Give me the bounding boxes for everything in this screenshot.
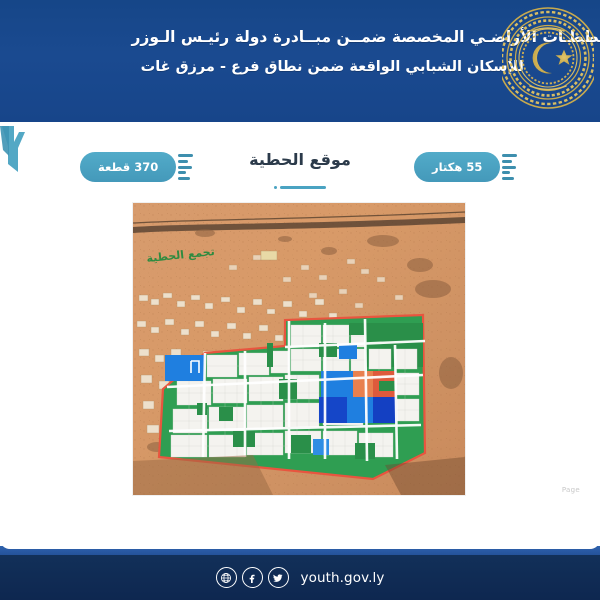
libyan-government-seal-icon [502,2,594,114]
site-title-underline [0,186,600,189]
site-title: موقع الحطية [249,150,351,169]
underline-bar [280,186,326,189]
site-title-wrap: موقع الحطية [0,150,600,169]
underline-dot [274,186,277,189]
map-canvas: تجمع الحطية [133,203,465,495]
slide-root: مخططـات الأراضـي المخصصة ضمــن مبــادرة … [0,0,600,600]
facebook-icon[interactable] [242,567,263,588]
page-header: مخططـات الأراضـي المخصصة ضمــن مبــادرة … [0,0,600,122]
header-title-line-2: للإسكان الشبابي الواقعة ضمن نطاق فرع - م… [0,52,524,82]
footer-accent-strip [0,546,600,555]
site-url[interactable]: youth.gov.ly [301,570,385,586]
twitter-icon[interactable] [268,567,289,588]
globe-icon[interactable] [216,567,237,588]
site-plan-map[interactable]: تجمع الحطية [133,203,465,495]
page-marker: Page [562,486,580,494]
header-title: مخططـات الأراضـي المخصصة ضمــن مبــادرة … [0,22,502,82]
page-footer: youth.gov.ly [0,555,600,600]
social-links [216,567,289,588]
